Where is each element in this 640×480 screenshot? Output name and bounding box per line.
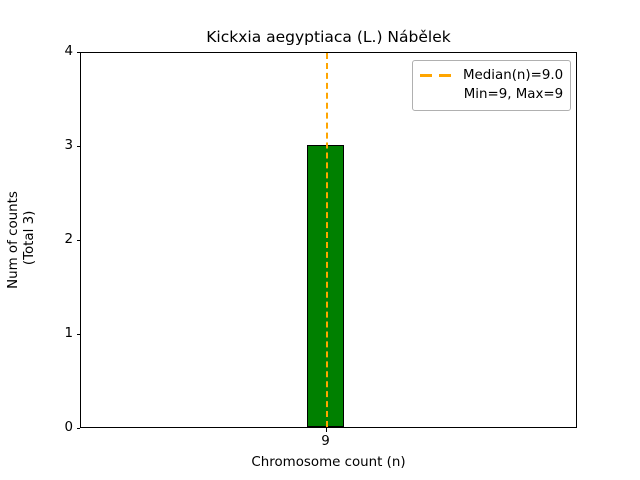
legend-entry-median: Median(n)=9.0 — [420, 66, 563, 85]
x-tick-label-0: 9 — [321, 434, 330, 449]
y-tick-mark-0 — [77, 428, 81, 429]
y-axis-label-wrap: Num of counts (Total 3) — [0, 52, 44, 428]
y-tick-label-3: 3 — [64, 139, 73, 152]
x-tick-mark-0 — [326, 428, 327, 432]
legend: Median(n)=9.0 Min=9, Max=9 — [412, 60, 571, 111]
legend-label-minmax: Min=9, Max=9 — [463, 85, 563, 104]
dashed-line-icon — [420, 70, 454, 82]
median-line — [326, 53, 328, 427]
blank-marker-icon — [420, 89, 454, 101]
y-axis-label: Num of counts (Total 3) — [6, 191, 38, 289]
y-tick-label-2: 2 — [64, 233, 73, 246]
y-tick-label-4: 4 — [64, 45, 73, 58]
legend-label-median: Median(n)=9.0 — [463, 66, 563, 85]
y-tick-label-1: 1 — [64, 327, 73, 340]
chart-title: Kickxia aegyptiaca (L.) Nábělek — [80, 28, 577, 46]
figure-canvas: Kickxia aegyptiaca (L.) Nábělek 0 1 2 3 … — [0, 0, 640, 480]
legend-entry-minmax: Min=9, Max=9 — [420, 85, 563, 104]
y-tick-label-0: 0 — [64, 421, 73, 434]
x-axis-label: Chromosome count (n) — [80, 455, 577, 470]
